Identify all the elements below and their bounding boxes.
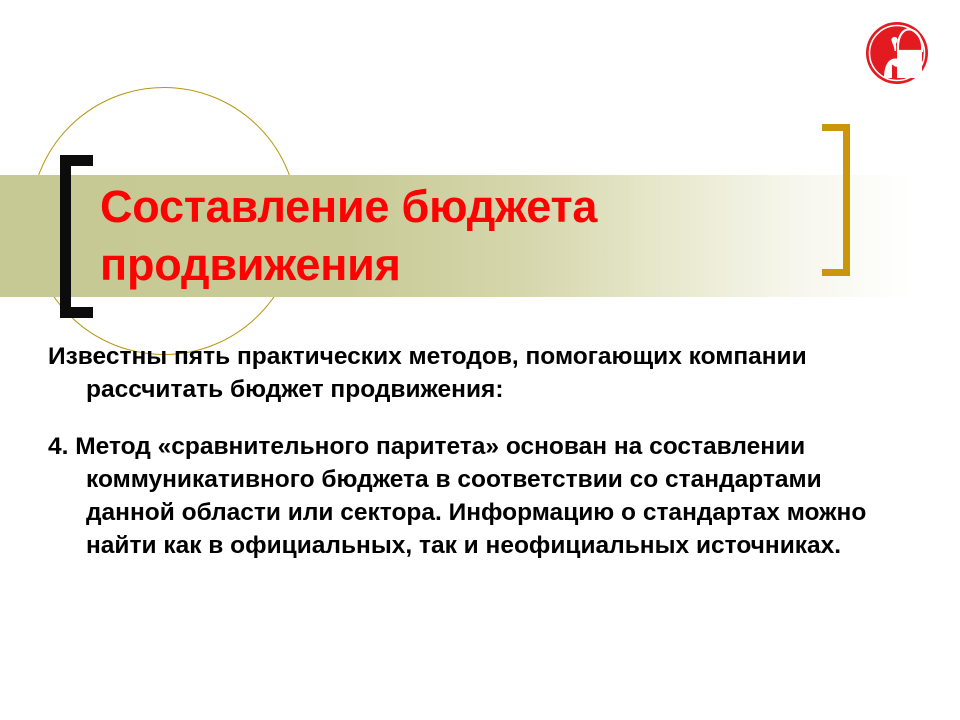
left-bracket-stem <box>60 155 71 318</box>
paragraph-method-4-lead: 4. Метод «сравнительного паритета» основ… <box>48 433 805 460</box>
paragraph-method-4-rest: коммуникативного бюджета в соответствии … <box>86 466 866 559</box>
left-bracket-bottom-arm <box>60 307 93 318</box>
body-content: Известны пять практических методов, помо… <box>48 340 896 562</box>
institute-emblem-logo <box>864 20 930 86</box>
presentation-slide: Составление бюджета продвижения <box>0 0 960 720</box>
paragraph-method-4: 4. Метод «сравнительного паритета» основ… <box>48 430 896 562</box>
right-bracket-bottom-arm <box>822 269 850 276</box>
paragraph-intro-lead: Известны пять практических методов, помо… <box>48 343 807 370</box>
right-bracket-stem <box>843 124 850 276</box>
left-bracket-decoration <box>60 155 93 318</box>
paragraph-intro: Известны пять практических методов, помо… <box>48 340 896 406</box>
paragraph-intro-rest: рассчитать бюджет продвижения: <box>86 376 504 403</box>
page-title: Составление бюджета продвижения <box>100 178 800 294</box>
right-bracket-decoration <box>822 124 850 276</box>
